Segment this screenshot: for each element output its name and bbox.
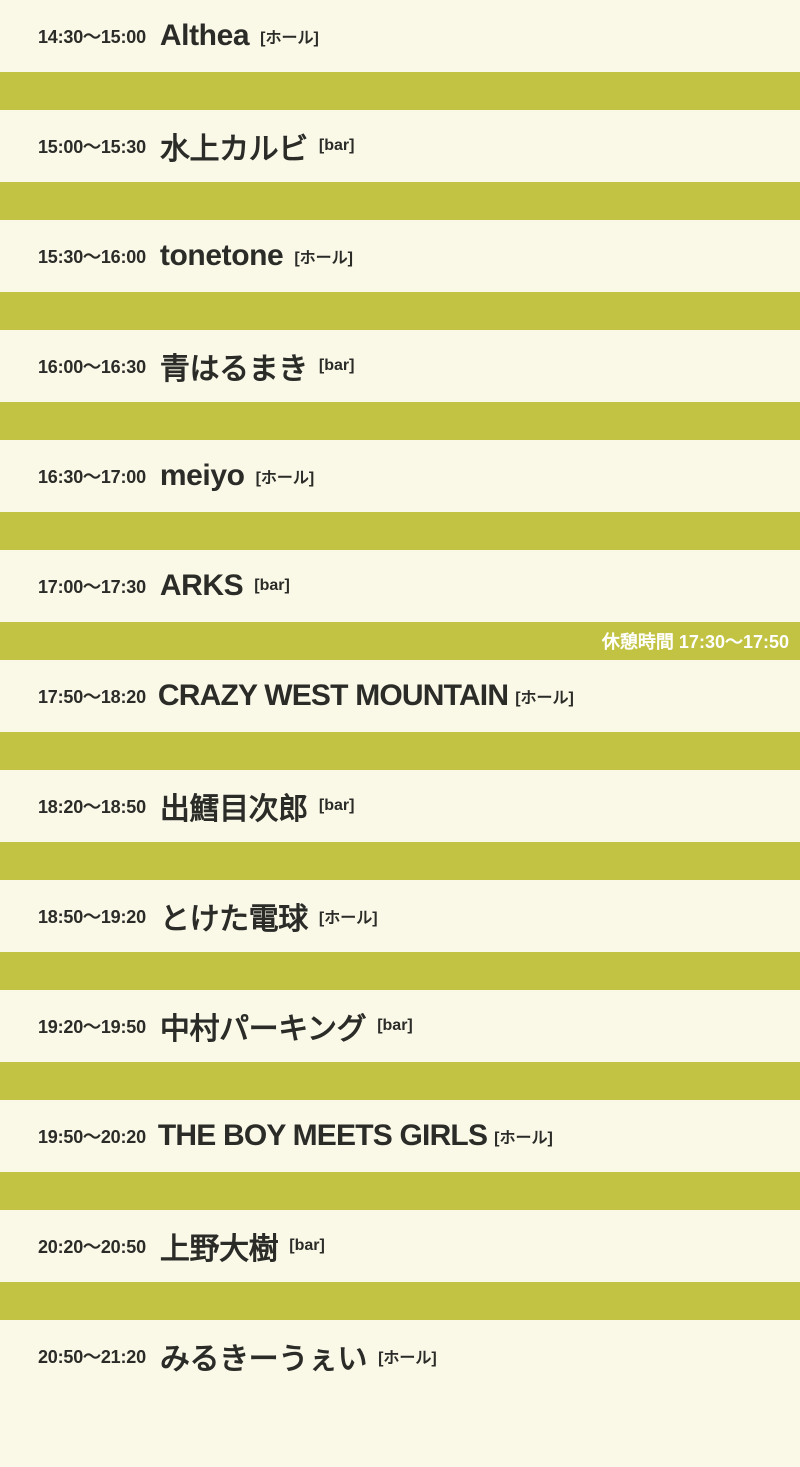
- slot-time: 18:20〜18:50: [38, 793, 146, 819]
- slot-venue-tag: [bar]: [289, 1237, 325, 1255]
- separator-band: [0, 512, 800, 550]
- slot-time: 17:50〜18:20: [38, 683, 146, 709]
- slot-artist-name: みるきーうぇい: [160, 1334, 367, 1378]
- timetable-slot[interactable]: 17:50〜18:20CRAZY WEST MOUNTAIN[ホール]: [0, 660, 800, 732]
- slot-artist-name: THE BOY MEETS GIRLS: [158, 1119, 487, 1153]
- separator-band: [0, 842, 800, 880]
- slot-time: 15:00〜15:30: [38, 133, 146, 159]
- slot-time: 17:00〜17:30: [38, 573, 146, 599]
- slot-time: 19:50〜20:20: [38, 1123, 146, 1149]
- separator-band: [0, 1062, 800, 1100]
- slot-venue-tag: [ホール]: [494, 1124, 553, 1148]
- separator-band: [0, 1282, 800, 1320]
- slot-time: 20:20〜20:50: [38, 1233, 146, 1259]
- slot-artist-name: 中村パーキング: [160, 1004, 366, 1048]
- slot-venue-tag: [ホール]: [319, 904, 378, 928]
- break-band: 休憩時間 17:30〜17:50: [0, 622, 800, 660]
- slot-artist-name: tonetone: [160, 239, 283, 273]
- slot-venue-tag: [ホール]: [294, 244, 353, 268]
- slot-artist-name: 水上カルビ: [160, 124, 308, 168]
- slot-time: 16:00〜16:30: [38, 353, 146, 379]
- slot-venue-tag: [ホール]: [260, 24, 319, 48]
- slot-artist-name: 出鱈目次郎: [160, 784, 308, 828]
- timetable-slot[interactable]: 20:50〜21:20みるきーうぇい[ホール]: [0, 1320, 800, 1392]
- separator-band: [0, 732, 800, 770]
- slot-venue-tag: [ホール]: [515, 684, 574, 708]
- timetable-slot[interactable]: 19:20〜19:50中村パーキング[bar]: [0, 990, 800, 1062]
- slot-time: 18:50〜19:20: [38, 903, 146, 929]
- timetable-slot[interactable]: 15:00〜15:30水上カルビ[bar]: [0, 110, 800, 182]
- timetable-slot[interactable]: 18:20〜18:50出鱈目次郎[bar]: [0, 770, 800, 842]
- slot-venue-tag: [bar]: [254, 577, 290, 595]
- slot-venue-tag: [bar]: [319, 797, 355, 815]
- slot-artist-name: meiyo: [160, 459, 245, 493]
- separator-band: [0, 402, 800, 440]
- separator-band: [0, 292, 800, 330]
- timetable-slot[interactable]: 19:50〜20:20THE BOY MEETS GIRLS[ホール]: [0, 1100, 800, 1172]
- slot-artist-name: ARKS: [160, 569, 243, 603]
- timetable: 14:30〜15:00Althea[ホール]15:00〜15:30水上カルビ[b…: [0, 0, 800, 1467]
- slot-artist-name: CRAZY WEST MOUNTAIN: [158, 679, 508, 713]
- slot-venue-tag: [bar]: [319, 357, 355, 375]
- break-label: 休憩時間 17:30〜17:50: [602, 628, 789, 654]
- timetable-slot[interactable]: 17:00〜17:30ARKS[bar]: [0, 550, 800, 622]
- slot-artist-name: Althea: [160, 19, 249, 53]
- slot-artist-name: とけた電球: [160, 894, 308, 938]
- separator-band: [0, 1172, 800, 1210]
- timetable-slot[interactable]: 14:30〜15:00Althea[ホール]: [0, 0, 800, 72]
- timetable-slot[interactable]: 20:20〜20:50上野大樹[bar]: [0, 1210, 800, 1282]
- slot-artist-name: 上野大樹: [160, 1224, 278, 1268]
- timetable-slot[interactable]: 16:30〜17:00meiyo[ホール]: [0, 440, 800, 512]
- slot-time: 14:30〜15:00: [38, 23, 146, 49]
- slot-time: 20:50〜21:20: [38, 1343, 146, 1369]
- timetable-slot[interactable]: 18:50〜19:20とけた電球[ホール]: [0, 880, 800, 952]
- slot-venue-tag: [bar]: [319, 137, 355, 155]
- timetable-slot[interactable]: 16:00〜16:30青はるまき[bar]: [0, 330, 800, 402]
- slot-venue-tag: [bar]: [377, 1017, 413, 1035]
- separator-band: [0, 182, 800, 220]
- slot-venue-tag: [ホール]: [256, 464, 315, 488]
- slot-time: 15:30〜16:00: [38, 243, 146, 269]
- slot-time: 16:30〜17:00: [38, 463, 146, 489]
- slot-venue-tag: [ホール]: [378, 1344, 437, 1368]
- timetable-slot[interactable]: 15:30〜16:00tonetone[ホール]: [0, 220, 800, 292]
- separator-band: [0, 72, 800, 110]
- separator-band: [0, 952, 800, 990]
- slot-time: 19:20〜19:50: [38, 1013, 146, 1039]
- slot-artist-name: 青はるまき: [160, 344, 308, 388]
